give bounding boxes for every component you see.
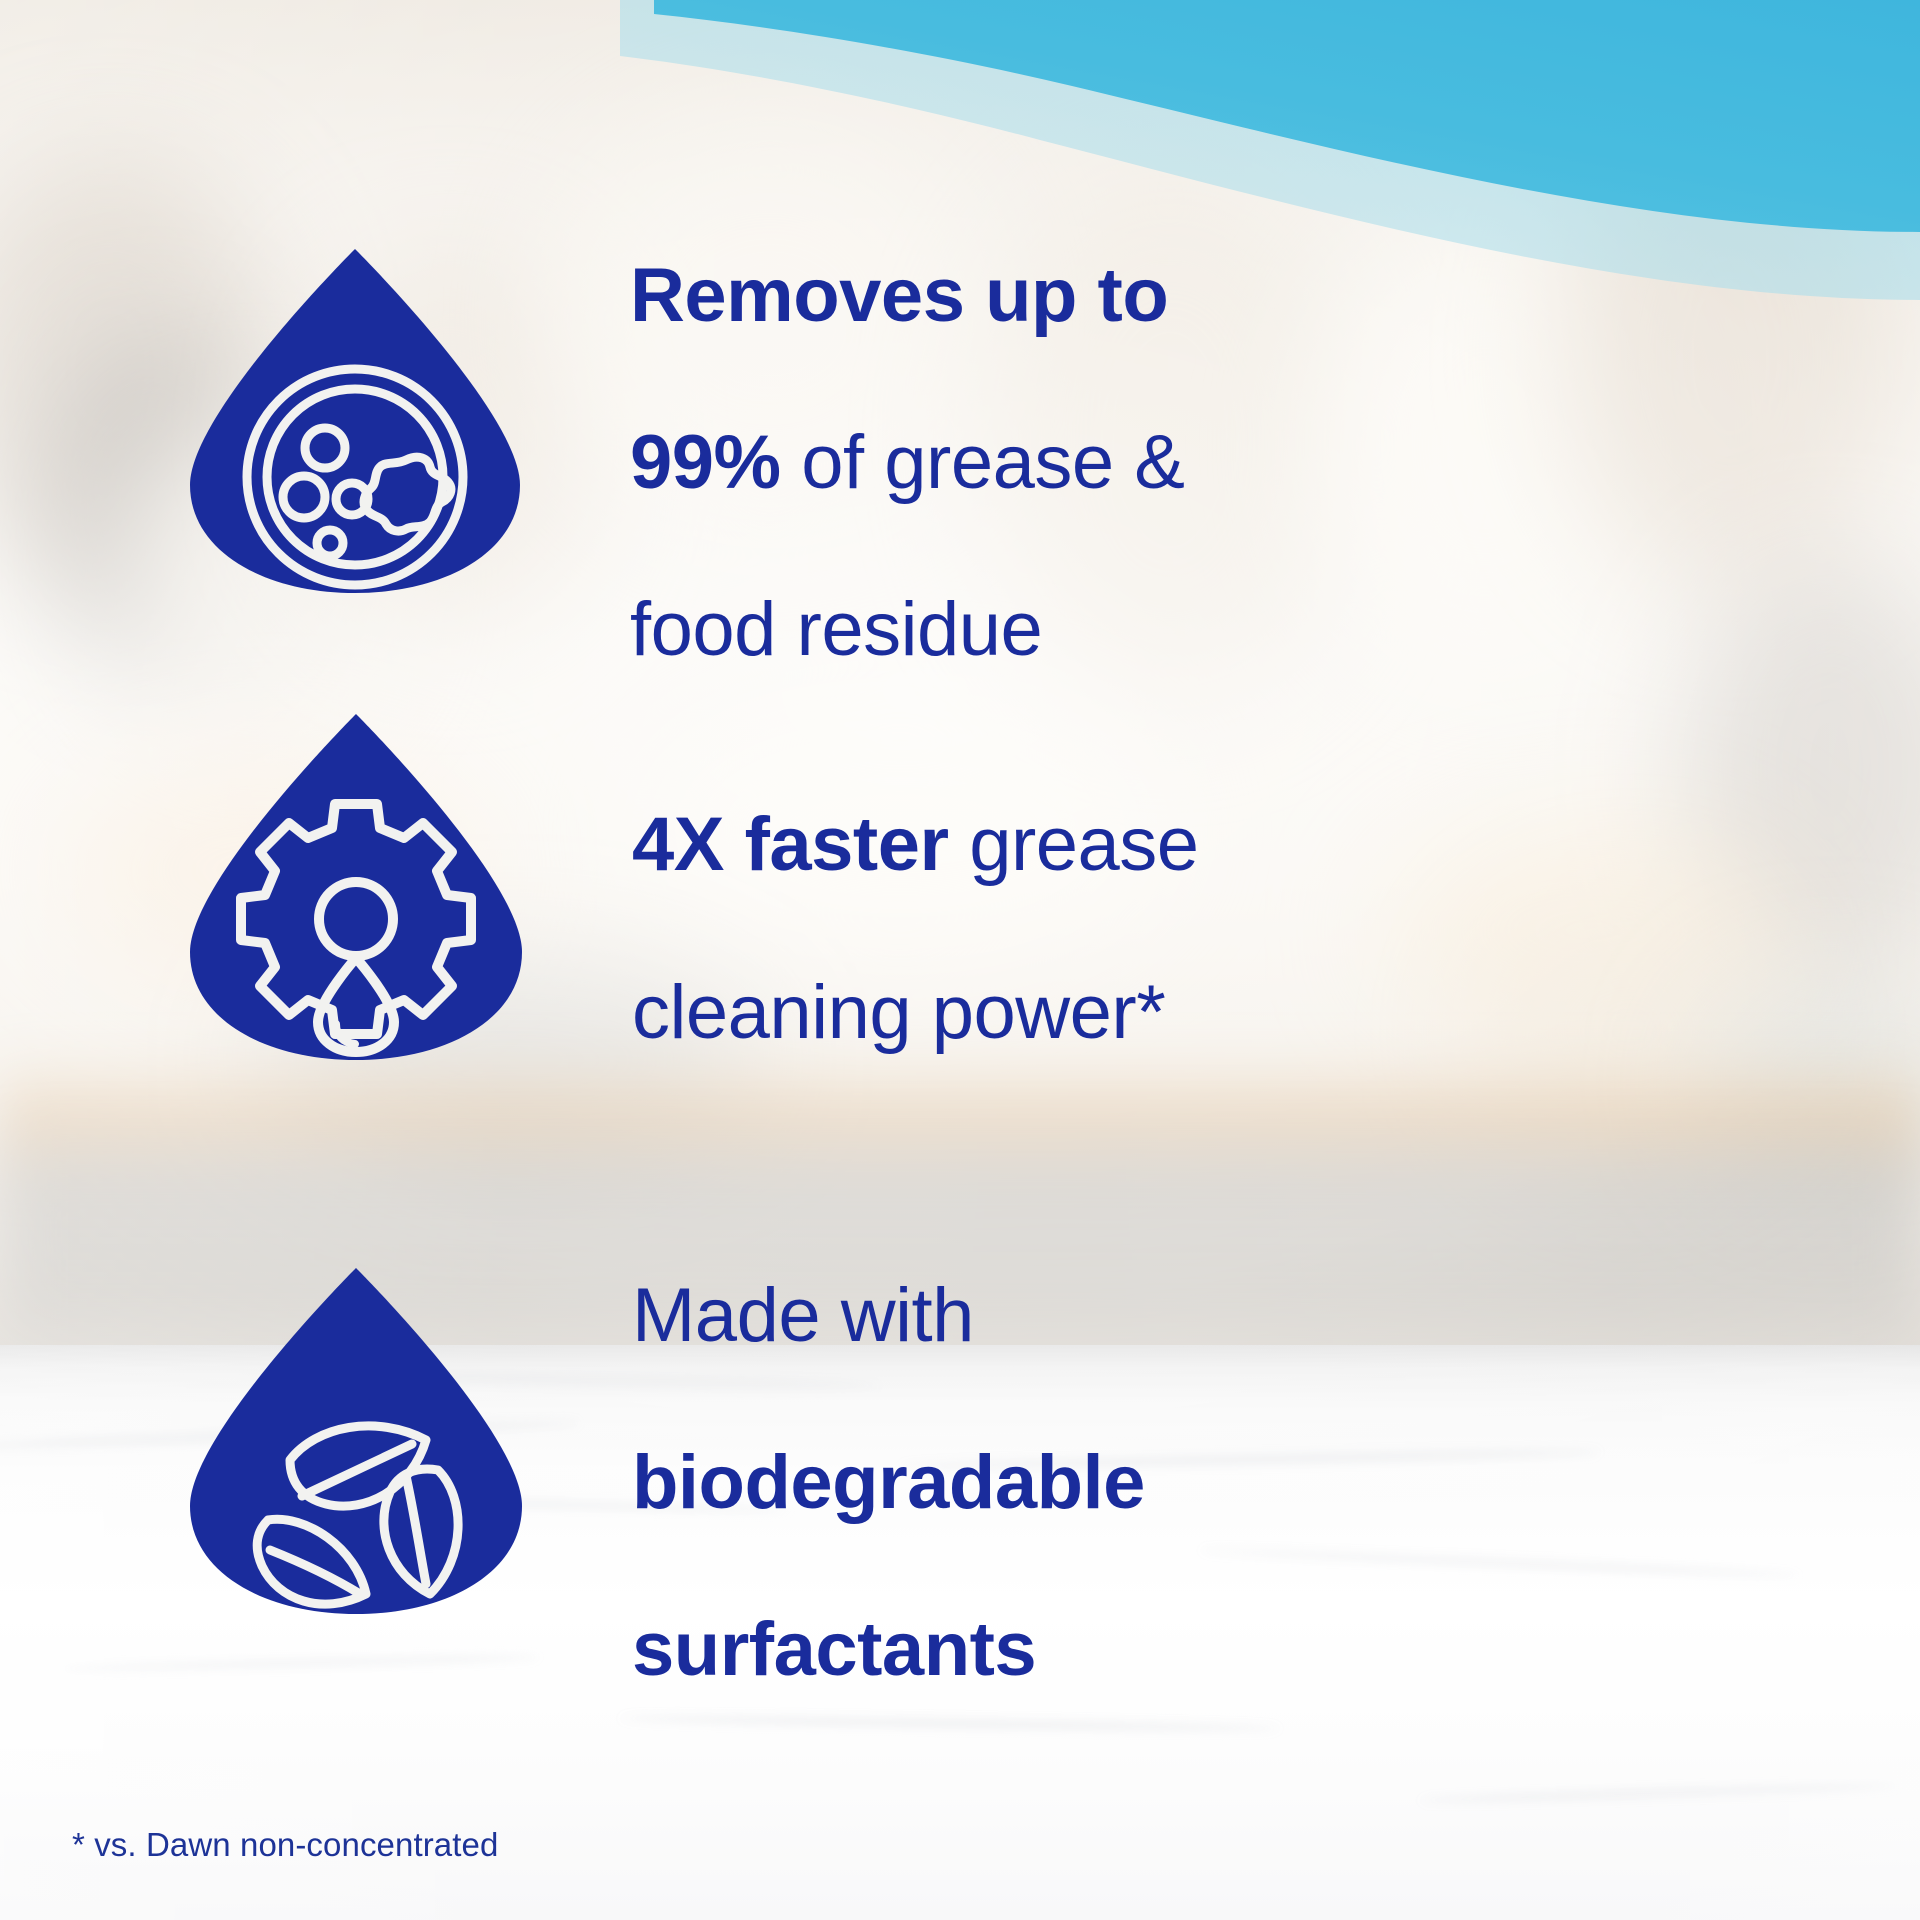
feature-item-biodegradable: Made with biodegradable surfactants	[180, 1190, 1145, 1692]
feature-line: food residue	[630, 587, 1042, 672]
droplet-gear-drop-icon	[180, 710, 532, 1064]
feature-highlight: surfactants	[632, 1607, 1036, 1692]
features-list: Removes up to 99% of grease & food resid…	[0, 0, 1920, 1920]
feature-item-faster-cleaning: 4X faster grease cleaning power*	[180, 710, 1199, 1064]
droplet-recycle-leaves-icon	[180, 1264, 532, 1618]
feature-item-removes-grease: Removes up to 99% of grease & food resid…	[180, 170, 1184, 672]
feature-text: 4X faster grease cleaning power*	[632, 720, 1199, 1054]
feature-line: grease	[949, 802, 1199, 887]
marketing-banner: Removes up to 99% of grease & food resid…	[0, 0, 1920, 1920]
feature-highlight: biodegradable	[632, 1440, 1145, 1525]
feature-highlight: 99%	[630, 420, 781, 505]
feature-text: Removes up to 99% of grease & food resid…	[630, 170, 1184, 672]
feature-line: Made with	[632, 1273, 974, 1358]
feature-line: cleaning power*	[632, 970, 1165, 1055]
feature-highlight: 4X faster	[632, 802, 949, 887]
feature-line: of grease &	[781, 420, 1185, 505]
footnote-disclaimer: * vs. Dawn non-concentrated	[72, 1826, 498, 1864]
droplet-plate-bubbles-icon	[180, 245, 530, 597]
feature-text: Made with biodegradable surfactants	[632, 1190, 1145, 1692]
feature-line: Removes up to	[630, 253, 1168, 338]
